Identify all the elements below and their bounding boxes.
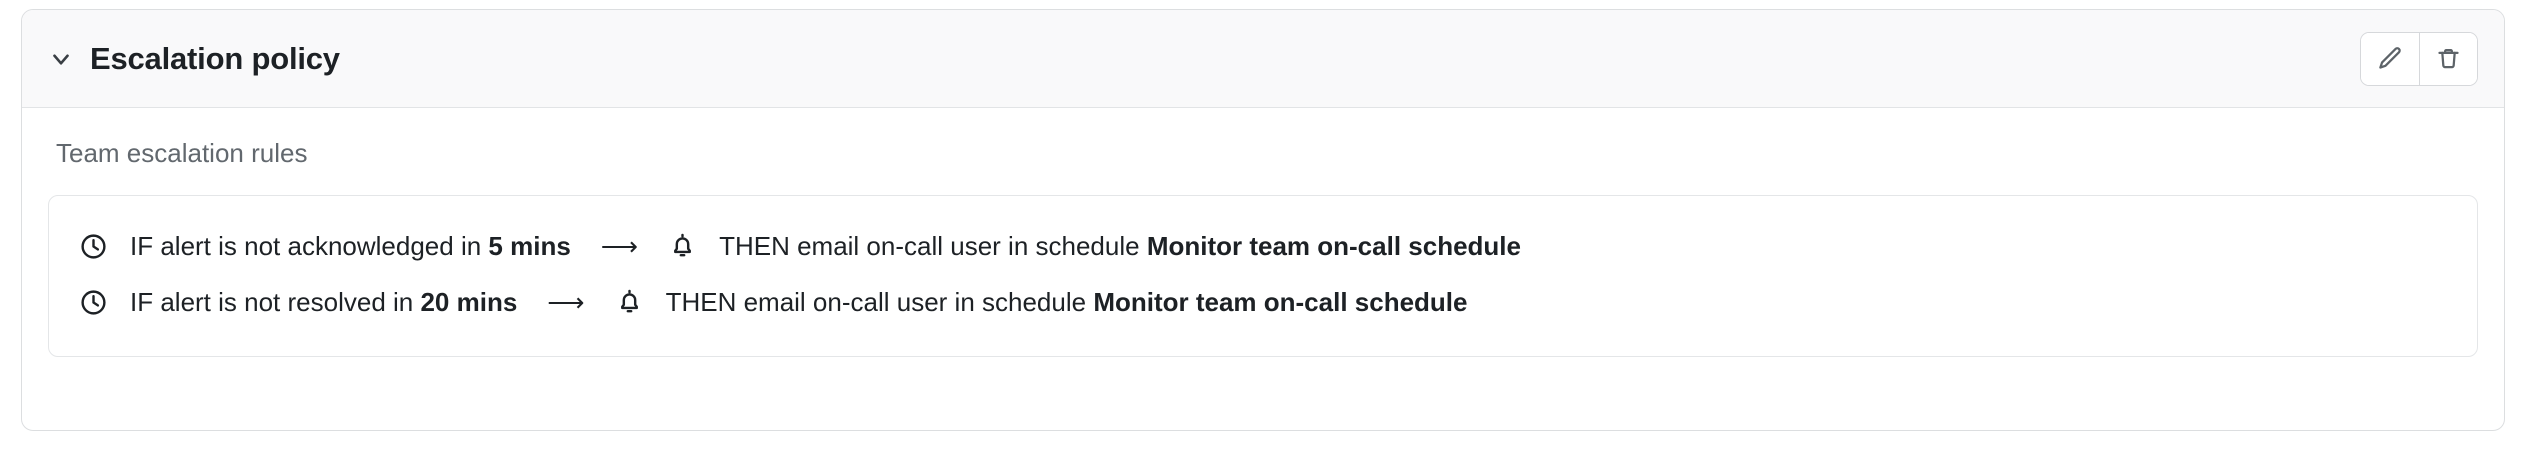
rule-action-value: Monitor team on-call schedule <box>1147 231 1521 261</box>
bell-icon <box>615 288 644 317</box>
rule-condition-prefix: IF alert is not acknowledged in <box>130 231 488 261</box>
rule-condition-value: 5 mins <box>488 231 570 261</box>
escalation-rule-row: IF alert is not acknowledged in 5 mins ⟶… <box>49 218 2477 274</box>
rule-action-text: THEN email on-call user in schedule Moni… <box>666 287 1468 318</box>
rule-condition: IF alert is not acknowledged in 5 mins <box>79 231 571 262</box>
bell-icon <box>668 232 697 261</box>
rule-condition-text: IF alert is not resolved in 20 mins <box>130 287 517 318</box>
rule-condition-text: IF alert is not acknowledged in 5 mins <box>130 231 571 262</box>
card-header-left[interactable]: Escalation policy <box>48 41 340 77</box>
rule-action-text: THEN email on-call user in schedule Moni… <box>719 231 1521 262</box>
escalation-policy-card: Escalation policy Team escalation rules <box>21 9 2505 431</box>
rule-action-value: Monitor team on-call schedule <box>1093 287 1467 317</box>
rule-condition-value: 20 mins <box>420 287 517 317</box>
card-header: Escalation policy <box>22 10 2504 108</box>
card-action-group <box>2360 32 2478 86</box>
delete-button[interactable] <box>2419 33 2477 85</box>
card-body: Team escalation rules IF alert is not ac… <box>22 108 2504 357</box>
rule-arrow-icon: ⟶ <box>547 287 584 318</box>
trash-icon <box>2435 45 2462 72</box>
escalation-rule-row: IF alert is not resolved in 20 mins ⟶ TH… <box>49 274 2477 330</box>
chevron-down-icon[interactable] <box>48 46 74 72</box>
rule-condition: IF alert is not resolved in 20 mins <box>79 287 517 318</box>
rule-action: THEN email on-call user in schedule Moni… <box>615 287 1468 318</box>
section-subtitle: Team escalation rules <box>56 138 2478 169</box>
clock-icon <box>79 232 108 261</box>
rule-action: THEN email on-call user in schedule Moni… <box>668 231 1521 262</box>
rule-action-prefix: THEN email on-call user in schedule <box>666 287 1094 317</box>
rule-arrow-icon: ⟶ <box>601 231 638 262</box>
rule-action-prefix: THEN email on-call user in schedule <box>719 231 1147 261</box>
rule-condition-prefix: IF alert is not resolved in <box>130 287 420 317</box>
escalation-rules-list: IF alert is not acknowledged in 5 mins ⟶… <box>48 195 2478 357</box>
edit-button[interactable] <box>2361 33 2419 85</box>
pencil-icon <box>2377 45 2404 72</box>
clock-icon <box>79 288 108 317</box>
page-title: Escalation policy <box>90 41 340 77</box>
